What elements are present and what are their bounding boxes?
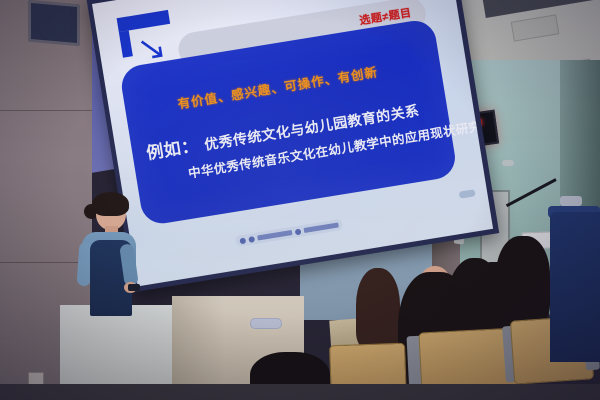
toolbar-dot-icon[interactable] [239, 237, 246, 244]
clicker-remote[interactable] [128, 284, 140, 291]
toolbar-dot-icon[interactable] [295, 228, 302, 235]
toolbar-dot-icon[interactable] [248, 236, 255, 243]
smoke-detector-icon [502, 160, 514, 166]
lecture-hall-photo: 选题≠题目 有价值、感兴趣、可操作、有创新 例如：优秀传统文化与幼儿园教育的关系… [0, 0, 600, 400]
floor [0, 384, 600, 400]
wall-speaker [28, 0, 80, 46]
slide-example-lead: 例如： [145, 136, 200, 163]
blue-post [550, 212, 600, 362]
microphone-base [560, 196, 582, 206]
audience-hair [356, 268, 400, 348]
presenter [78, 196, 140, 316]
desk-nameplate [250, 318, 282, 329]
presenter-hair [92, 192, 129, 216]
wall-seam [0, 110, 92, 111]
